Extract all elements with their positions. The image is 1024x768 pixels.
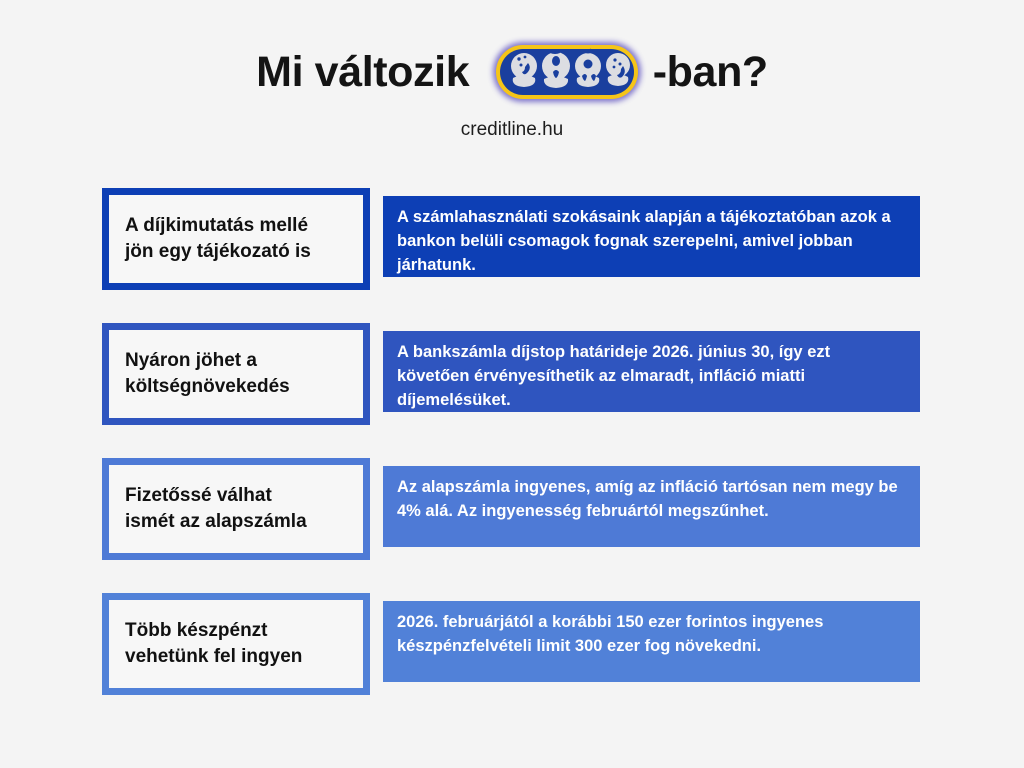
source-attribution: creditline.hu <box>0 120 1024 139</box>
page-title-prefix: Mi változik <box>256 51 481 94</box>
row-label-text: Nyáron jöhet a költségnövekedés <box>109 348 306 399</box>
row-description-panel: A számlahasználati szokásaink alapján a … <box>383 196 920 277</box>
row-label-box: Több készpénzt vehetünk fel ingyen <box>102 593 370 695</box>
row-label-text: A díjkimutatás mellé jön egy tájékozató … <box>109 213 327 264</box>
row-description-panel: 2026. februárjától a korábbi 150 ezer fo… <box>383 601 920 682</box>
row-description-text: 2026. februárjától a korábbi 150 ezer fo… <box>397 610 906 658</box>
content-row: Fizetőssé válhat ismét az alapszámla Az … <box>0 458 1024 570</box>
row-description-text: A számlahasználati szokásaink alapján a … <box>397 205 906 277</box>
content-row: Több készpénzt vehetünk fel ingyen 2026.… <box>0 593 1024 705</box>
content-rows: A díjkimutatás mellé jön egy tájékozató … <box>0 188 1024 728</box>
row-label-box: Fizetőssé válhat ismét az alapszámla <box>102 458 370 560</box>
row-label-text: Több készpénzt vehetünk fel ingyen <box>109 618 318 669</box>
row-label-box: A díjkimutatás mellé jön egy tájékozató … <box>102 188 370 290</box>
content-row: A díjkimutatás mellé jön egy tájékozató … <box>0 188 1024 300</box>
row-description-text: Az alapszámla ingyenes, amíg az infláció… <box>397 475 906 523</box>
page-title: Mi változik <box>0 40 1024 104</box>
infographic-header: Mi változik <box>0 0 1024 139</box>
row-description-panel: Az alapszámla ingyenes, amíg az infláció… <box>383 466 920 547</box>
content-row: Nyáron jöhet a költségnövekedés A banksz… <box>0 323 1024 435</box>
row-label-text: Fizetőssé válhat ismét az alapszámla <box>109 483 323 534</box>
graffiti-2026-icon <box>487 36 647 108</box>
row-description-text: A bankszámla díjstop határideje 2026. jú… <box>397 340 906 412</box>
page-title-suffix: -ban? <box>653 51 768 94</box>
row-description-panel: A bankszámla díjstop határideje 2026. jú… <box>383 331 920 412</box>
row-label-box: Nyáron jöhet a költségnövekedés <box>102 323 370 425</box>
